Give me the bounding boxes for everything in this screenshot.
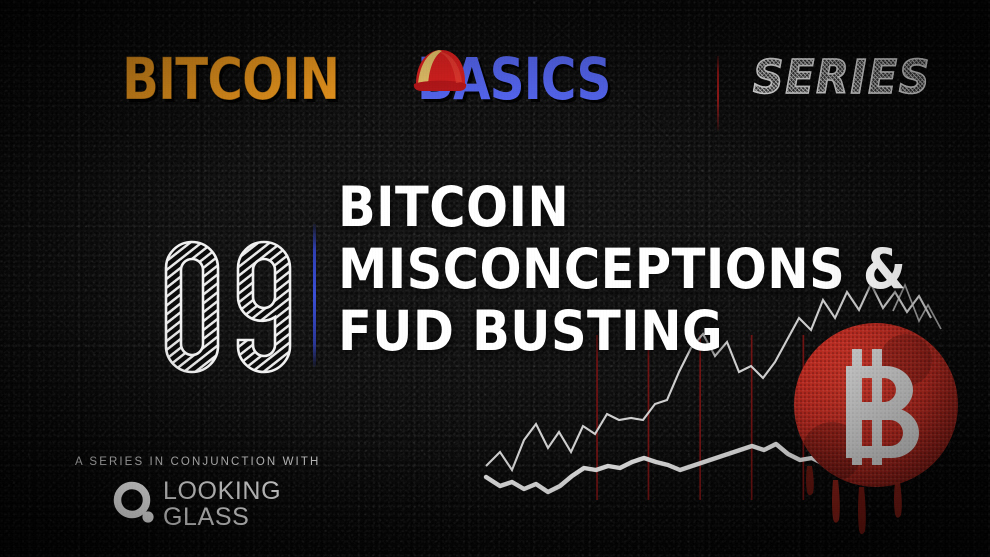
promo-graphic: BITCOIN BASICS SERIES 09 BITCOIN [0, 0, 990, 557]
background-vignette [0, 0, 990, 557]
